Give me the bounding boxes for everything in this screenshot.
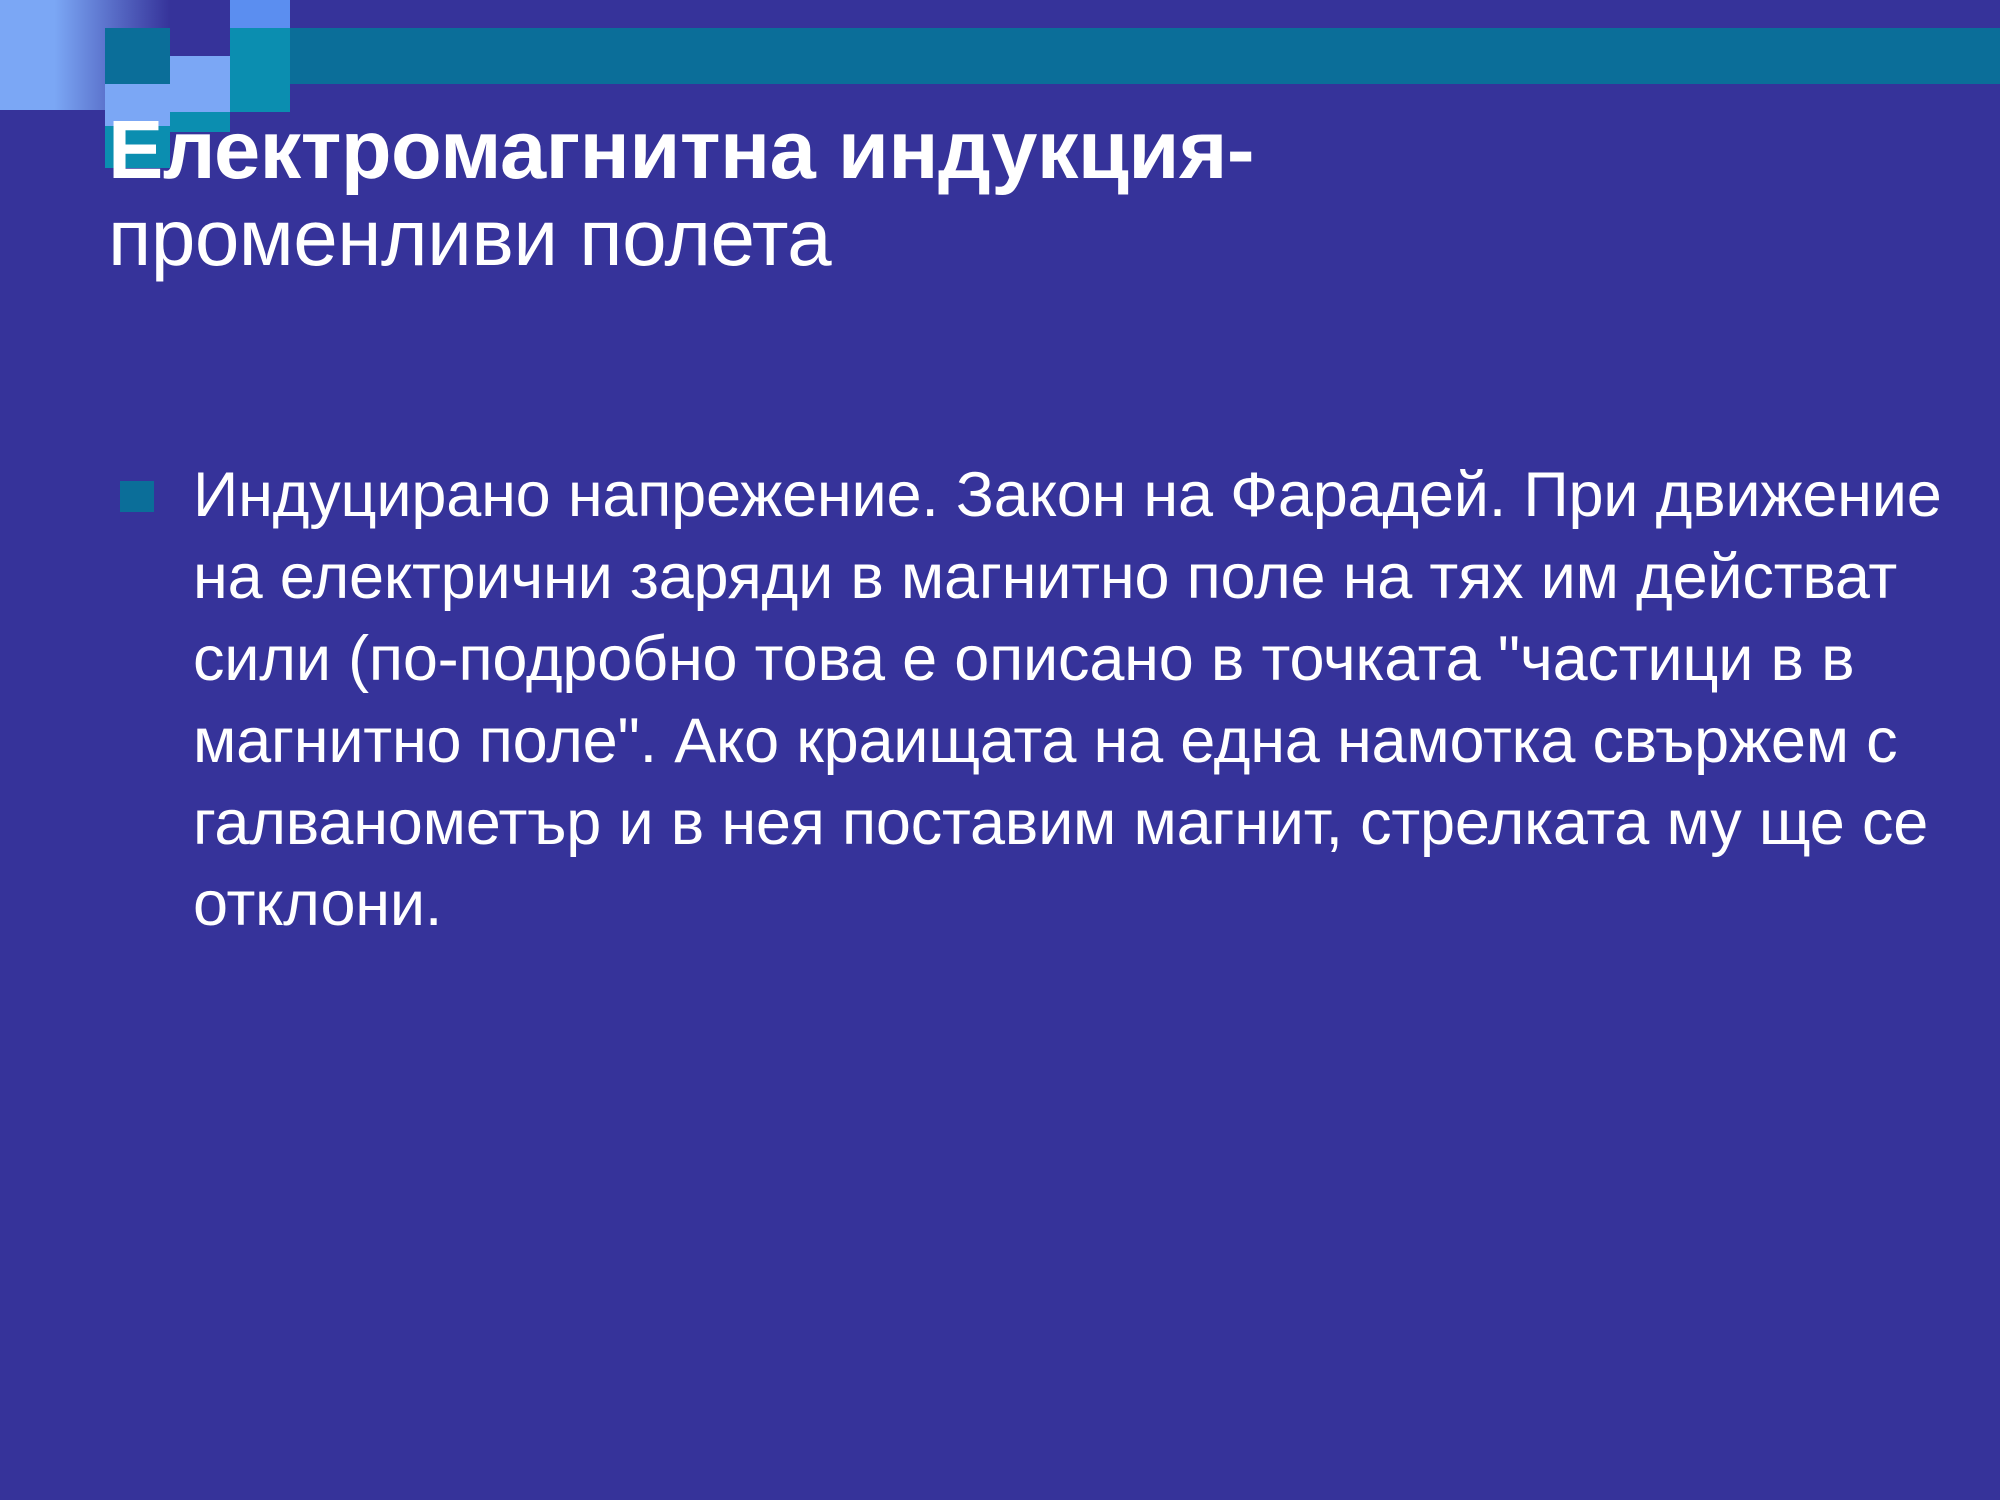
square-bullet-icon (120, 481, 154, 512)
presentation-slide: Електромагнитна индукция- променливи пол… (0, 0, 2000, 1500)
title-line-2: променливи полета (108, 193, 1908, 283)
decorative-header-band (0, 0, 2000, 110)
header-square-teal-7 (105, 28, 170, 84)
header-square-indigo-2 (170, 0, 230, 56)
header-square-teal-11 (290, 28, 2000, 84)
header-square-light-3 (230, 0, 290, 28)
header-square-blue-3 (290, 0, 2000, 28)
slide-title: Електромагнитна индукция- променливи пол… (108, 108, 1908, 282)
bullet-list-item: Индуцирано напрежение. Закон на Фарадей.… (120, 455, 1950, 946)
title-line-1: Електромагнитна индукция- (108, 108, 1908, 193)
bullet-item-text: Индуцирано напрежение. Закон на Фарадей.… (193, 455, 1950, 946)
